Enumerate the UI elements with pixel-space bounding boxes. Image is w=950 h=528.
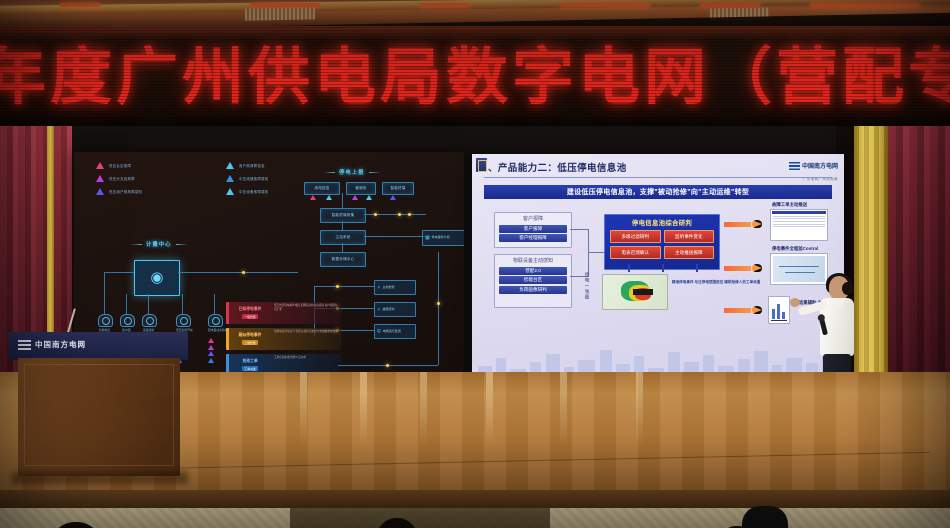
arrow-shaft — [724, 222, 751, 227]
podium-logo-text: 中国南方电网 — [35, 339, 86, 350]
legend-label: 中压线路故障感知 — [239, 176, 269, 181]
banner-title: 年度广州供电局数字电网（营配专场）产品 — [0, 42, 950, 112]
legend-item: 中压线路故障感知 — [226, 175, 406, 182]
meter-device: 低压智能开关 — [176, 314, 189, 332]
ceiling-light — [60, 3, 100, 7]
map-line — [779, 266, 819, 267]
hall-body: 低压台区故障 低压分支线故障 低压用户侧故障感知 用户侧故障信息 中压线路故障感… — [0, 126, 950, 528]
flow-indicator — [374, 213, 377, 216]
topology-link — [438, 252, 439, 365]
group-item: 智能台区 — [499, 276, 567, 284]
item-label: 营配2.0 — [525, 268, 541, 274]
ceiling-vent — [245, 7, 315, 20]
core-item: 监听事件变化 — [664, 230, 715, 243]
panel-title: 疑似停电事件 — [239, 333, 262, 338]
input-group-customer: 客户报障 客户报障 客户经理报障 — [494, 212, 572, 248]
flow-arrow — [724, 264, 762, 273]
meter-icon — [142, 314, 157, 327]
section-badge-icon — [476, 158, 487, 172]
meter-device: 智能电表 — [98, 314, 111, 332]
right-projection-screen: 、产品能力二：低压停电信息池 中国南方电网 广东电网广州供电局 建设低压停电信息… — [472, 154, 844, 382]
floor-reflection — [636, 372, 643, 446]
connector — [588, 252, 604, 253]
floor-reflection — [486, 372, 493, 446]
output-caption: 故障工单主动推送 — [772, 202, 807, 208]
triangle-icon — [96, 175, 104, 182]
ceiling-lip — [0, 0, 950, 15]
panel-title: 已知停电事件 — [239, 307, 262, 312]
flow-indicator — [242, 271, 245, 274]
chart-axis — [771, 320, 787, 321]
ceiling-light — [560, 3, 650, 7]
legend-item: 用户侧故障信息 — [226, 162, 406, 169]
legend-label: 低压分支线故障 — [109, 176, 135, 181]
map-annotation: 精准停电事件 与过停电范围定位 辅助抢修人员工单派遣 — [672, 280, 760, 285]
output-screenshot-chart[interactable] — [768, 296, 790, 324]
chart-bar — [777, 304, 780, 319]
floor-reflection — [420, 372, 427, 446]
connector — [696, 264, 698, 272]
flow-indicator — [408, 213, 411, 216]
legend-label: 低压台区故障 — [109, 163, 131, 168]
topology-link — [214, 294, 215, 314]
group-header: 物联设备主动感知 — [495, 255, 571, 265]
meter-device: 集中器 — [120, 314, 133, 332]
flow-indicator — [336, 285, 339, 288]
item-label: 客户经理报障 — [519, 235, 547, 241]
topology-center-title: 计量中心 — [146, 240, 172, 248]
arrow-head — [752, 306, 762, 314]
header-rule — [484, 177, 832, 178]
map-line — [785, 272, 815, 273]
status-triangles — [390, 195, 396, 202]
connector — [662, 264, 664, 272]
topology-node: 数据存储中心 — [320, 252, 366, 267]
core-item: 多级过滤研判 — [610, 230, 661, 243]
flow-indicator — [386, 364, 389, 367]
panel-badge: 工单派发 — [242, 366, 257, 371]
group-item: 客户报障 — [499, 225, 567, 233]
ceiling-light — [420, 3, 470, 7]
alarm-panel-warning: 疑似停电事件 二级告警 智能电表异常信号 台区负载异常波动 分支线路状态变化 — [226, 328, 341, 350]
ceiling-light — [250, 3, 320, 7]
podium-logo: 中国南方电网 — [18, 339, 86, 350]
shield-icon: ⛨ — [377, 329, 381, 335]
floor-reflection — [360, 372, 367, 446]
screenshot-header — [772, 211, 826, 214]
one-map-label: 停电一张图 — [584, 272, 590, 314]
node-label: 故障研判 — [383, 308, 395, 312]
flow-indicator — [398, 213, 401, 216]
meter-device: 采集终端 — [142, 314, 155, 332]
ceiling-light — [810, 3, 920, 7]
topology-link — [104, 272, 134, 273]
map-marker — [633, 289, 653, 295]
topology-icon-node: ⚡ 主动抢修 — [374, 280, 416, 295]
panel-body: 低压台区停电事件推送 配网自动化主动感知 客户报障信息汇聚 — [271, 302, 341, 324]
banner-top-glow — [0, 26, 950, 40]
topology-link — [104, 272, 105, 314]
panel-badge: 二级告警 — [242, 340, 257, 345]
core-research-box: 停电信息池综合研判 多级过滤研判 监听事件变化 电表召测确认 主动推送报障 — [604, 214, 720, 270]
conference-hall-scene: 年度广州供电局数字电网（营配专场）产品 低压台区故障 低压分支线故障 低压用户侧… — [0, 0, 950, 528]
legend-label: 低压用户侧故障感知 — [109, 189, 142, 194]
panel-badge: 一级告警 — [242, 314, 257, 319]
topology-icon-node: ▦ 停电事件分析 — [422, 230, 464, 246]
topology-link — [342, 221, 343, 230]
connector — [570, 229, 588, 230]
panel-header: 已知停电事件 一级告警 — [229, 302, 271, 324]
arrow-shaft — [724, 266, 751, 271]
globe-icon: ◉ — [150, 268, 163, 288]
topology-node: 智能终端采集 — [320, 208, 366, 223]
topology-node: 用电信息 — [304, 182, 340, 195]
topology-node: 主站系统 — [320, 230, 366, 245]
topology-section-title: 停电上报 — [339, 168, 365, 176]
meter-icon — [98, 314, 113, 327]
wall-panel-dark — [290, 508, 550, 528]
ppt-subtitle: 建设低压停电信息池，支撑"被动抢修"向"主动运维"转型 — [567, 187, 749, 197]
ceiling-light — [700, 3, 760, 7]
status-triangles — [326, 195, 332, 202]
presenter-hand — [790, 298, 800, 307]
chart-bar — [782, 312, 785, 319]
core-title: 停电信息池综合研判 — [608, 218, 716, 227]
podium: 中国南方电网 — [0, 332, 188, 494]
group-item: 客户经理报障 — [499, 234, 567, 242]
group-item: 负荷画像研判 — [499, 286, 567, 294]
meter-icon — [120, 314, 135, 327]
podium-top-panel: 中国南方电网 — [8, 332, 188, 360]
presenter-hair-bun — [842, 282, 853, 295]
topology-link — [342, 243, 343, 252]
status-triangles — [208, 338, 214, 364]
node-label: 电网运行监测 — [383, 330, 401, 334]
core-item: 电表召测确认 — [610, 246, 661, 259]
topology-link — [314, 286, 374, 287]
item-label: 客户报障 — [524, 226, 542, 232]
topology-hub: ◉ — [134, 260, 180, 296]
video-camera — [742, 506, 788, 528]
core-item: 主动推送报障 — [664, 246, 715, 259]
grid-mark-icon — [789, 161, 800, 170]
input-group-iot: 物联设备主动感知 营配2.0 智能台区 负荷画像研判 — [494, 254, 572, 308]
chart-icon: ▦ — [425, 235, 430, 241]
output-caption: 停电事件全程监Control — [772, 246, 818, 252]
grid-mark-icon — [18, 339, 31, 350]
floor-seam — [150, 452, 930, 469]
panel-header: 疑似停电事件 二级告警 — [229, 328, 271, 350]
group-item: 营配2.0 — [499, 267, 567, 275]
connector — [588, 229, 589, 277]
triangle-icon — [226, 162, 234, 169]
connector — [628, 264, 630, 272]
flow-arrow — [724, 306, 762, 315]
legend-label: 中压设备故障感知 — [239, 189, 269, 194]
status-triangles — [366, 195, 372, 202]
panel-title: 抢修工单 — [242, 359, 257, 364]
bolt-icon: ⚡ — [377, 307, 381, 313]
output-screenshot-table[interactable] — [770, 209, 828, 241]
panel-body: 智能电表异常信号 台区负载异常波动 分支线路状态变化 — [271, 328, 341, 350]
core-items: 多级过滤研判 监听事件变化 电表召测确认 主动推送报障 — [608, 230, 716, 259]
floor-reflection — [300, 372, 307, 446]
triangle-icon — [96, 162, 104, 169]
topology-link — [126, 294, 127, 314]
meter-device: 配电自动化终端 — [208, 314, 221, 332]
topology-icon-node: ⚡ 故障研判 — [374, 302, 416, 317]
topology-link — [182, 294, 183, 314]
item-label: 智能台区 — [524, 277, 542, 283]
meter-icon — [176, 314, 191, 327]
podium-shadow — [12, 472, 188, 484]
triangle-icon — [226, 175, 234, 182]
item-label: 负荷画像研判 — [519, 287, 547, 293]
flow-indicator — [437, 302, 440, 305]
led-banner: 年度广州供电局数字电网（营配专场）产品 — [0, 26, 950, 130]
legend-label: 用户侧故障信息 — [239, 163, 265, 168]
meter-label: 配电自动化终端 — [208, 328, 221, 332]
node-label: 主动抢修 — [383, 286, 395, 290]
group-header: 客户报障 — [495, 213, 571, 223]
arrow-shaft — [724, 308, 751, 313]
logo-text: 中国南方电网 — [802, 161, 838, 170]
ppt-title: 、产品能力二：低压停电信息池 — [488, 160, 627, 174]
status-triangles — [352, 195, 358, 202]
arrow-head — [752, 220, 762, 228]
floor-reflection — [560, 372, 567, 446]
front-wall — [0, 490, 950, 528]
triangle-icon — [226, 188, 234, 195]
ppt-subtitle-bar: 建设低压停电信息池，支撑"被动抢修"向"主动运维"转型 — [484, 185, 832, 199]
alarm-panel-critical: 已知停电事件 一级告警 低压台区停电事件推送 配网自动化主动感知 客户报障信息汇… — [226, 302, 341, 324]
outage-map — [602, 274, 668, 310]
status-triangles — [310, 195, 316, 202]
topology-node: 智能终端 — [382, 182, 414, 195]
triangle-icon — [96, 188, 104, 195]
flow-arrow — [724, 220, 762, 229]
topology-node: 营销系 — [346, 182, 376, 195]
topology-link — [148, 294, 149, 314]
node-label: 停电事件分析 — [432, 236, 450, 240]
chart-bar — [772, 309, 775, 319]
arrow-head — [752, 264, 762, 272]
podium-body — [18, 358, 180, 476]
topology-link — [178, 272, 298, 273]
meter-icon — [208, 314, 223, 327]
bolt-icon: ⚡ — [377, 285, 381, 291]
topology-icon-node: ⛨ 电网运行监测 — [374, 324, 416, 339]
topology-link — [342, 193, 343, 208]
